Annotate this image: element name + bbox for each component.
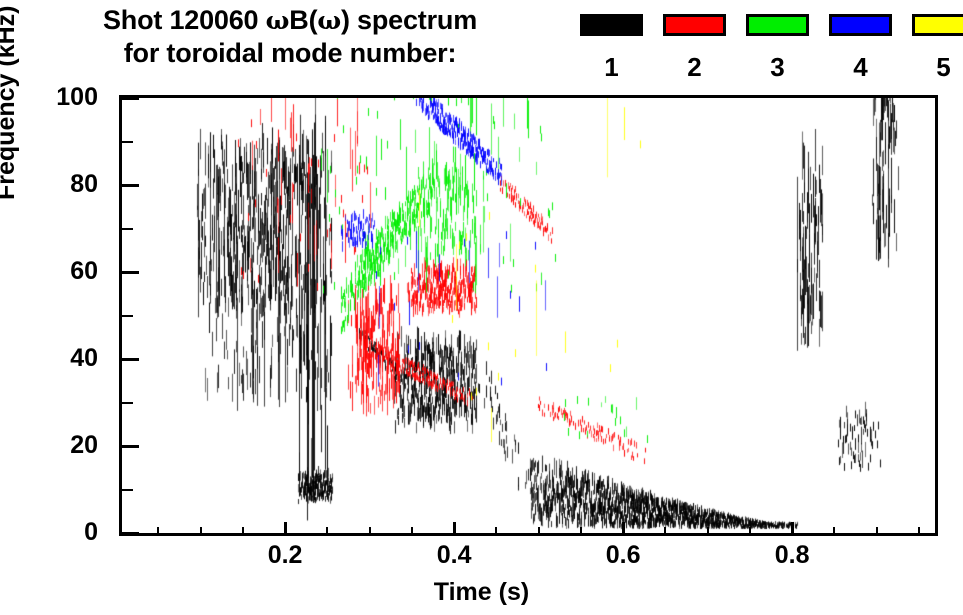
title-line-1: Shot 120060 ωB(ω) spectrum xyxy=(0,4,580,37)
y-tick-80 xyxy=(122,184,139,187)
plot-area xyxy=(122,98,935,533)
y-tick-40 xyxy=(122,358,139,361)
legend-label-3: 3 xyxy=(746,52,809,82)
legend-swatch-2 xyxy=(663,14,726,36)
y-tick-50 xyxy=(122,315,133,317)
x-tick-0.40 xyxy=(453,522,456,536)
legend-label-2: 2 xyxy=(663,52,726,82)
x-tick-0.20 xyxy=(284,522,287,536)
title-shot-text: Shot 120060 xyxy=(103,5,266,35)
spectrogram-canvas xyxy=(122,98,935,533)
y-tick-0 xyxy=(122,532,139,535)
x-tick-0.95 xyxy=(918,527,920,536)
omega-symbol-1: ω xyxy=(266,6,290,35)
y-axis-title: Frequency (kHz) xyxy=(0,6,21,200)
legend-label-4: 4 xyxy=(829,52,892,82)
x-tick-0.75 xyxy=(749,527,751,536)
legend-swatch-4 xyxy=(829,14,892,36)
x-tick-0.30 xyxy=(369,527,371,536)
y-tick-label-40: 40 xyxy=(0,346,98,371)
x-tick-label-0.8: 0.8 xyxy=(752,543,832,568)
x-axis-title: Time (s) xyxy=(0,578,963,607)
x-tick-0.50 xyxy=(538,527,540,536)
x-tick-0.35 xyxy=(411,527,413,536)
x-tick-label-0.2: 0.2 xyxy=(245,543,325,568)
x-tick-0.65 xyxy=(664,527,666,536)
y-tick-70 xyxy=(122,228,133,230)
y-tick-20 xyxy=(122,445,139,448)
legend-swatch-5 xyxy=(912,14,963,36)
y-tick-label-60: 60 xyxy=(0,259,98,284)
x-tick-label-0.4: 0.4 xyxy=(414,543,494,568)
y-tick-90 xyxy=(122,141,133,143)
legend-swatch-3 xyxy=(746,14,809,36)
legend: 12345 xyxy=(575,0,963,92)
y-tick-60 xyxy=(122,271,139,274)
spectrogram-figure: Shot 120060 ωB(ω) spectrum for toroidal … xyxy=(0,0,963,615)
legend-label-1: 1 xyxy=(580,52,643,82)
x-tick-0.85 xyxy=(833,527,835,536)
axis-frame-right xyxy=(935,95,938,536)
x-tick-0.05 xyxy=(157,527,159,536)
y-tick-10 xyxy=(122,489,133,491)
x-tick-0.15 xyxy=(242,527,244,536)
x-tick-0.60 xyxy=(622,522,625,536)
x-tick-0.45 xyxy=(495,527,497,536)
y-tick-label-0: 0 xyxy=(0,520,98,545)
x-tick-0.90 xyxy=(876,527,878,536)
legend-swatch-1 xyxy=(580,14,643,36)
x-tick-0.10 xyxy=(200,527,202,536)
y-tick-30 xyxy=(122,402,133,404)
title-line-2: for toroidal mode number: xyxy=(0,37,580,70)
title-spectrum-text: ) spectrum xyxy=(341,5,477,35)
axis-frame-top xyxy=(119,95,938,98)
y-tick-100 xyxy=(122,97,139,100)
x-tick-0.55 xyxy=(580,527,582,536)
title-b-open: B( xyxy=(289,5,317,35)
x-tick-0.80 xyxy=(791,522,794,536)
omega-symbol-2: ω xyxy=(317,6,341,35)
legend-label-5: 5 xyxy=(912,52,963,82)
x-tick-0.70 xyxy=(707,527,709,536)
y-tick-label-20: 20 xyxy=(0,433,98,458)
figure-title: Shot 120060 ωB(ω) spectrum for toroidal … xyxy=(0,4,580,70)
x-tick-label-0.6: 0.6 xyxy=(583,543,663,568)
x-tick-0.25 xyxy=(326,527,328,536)
